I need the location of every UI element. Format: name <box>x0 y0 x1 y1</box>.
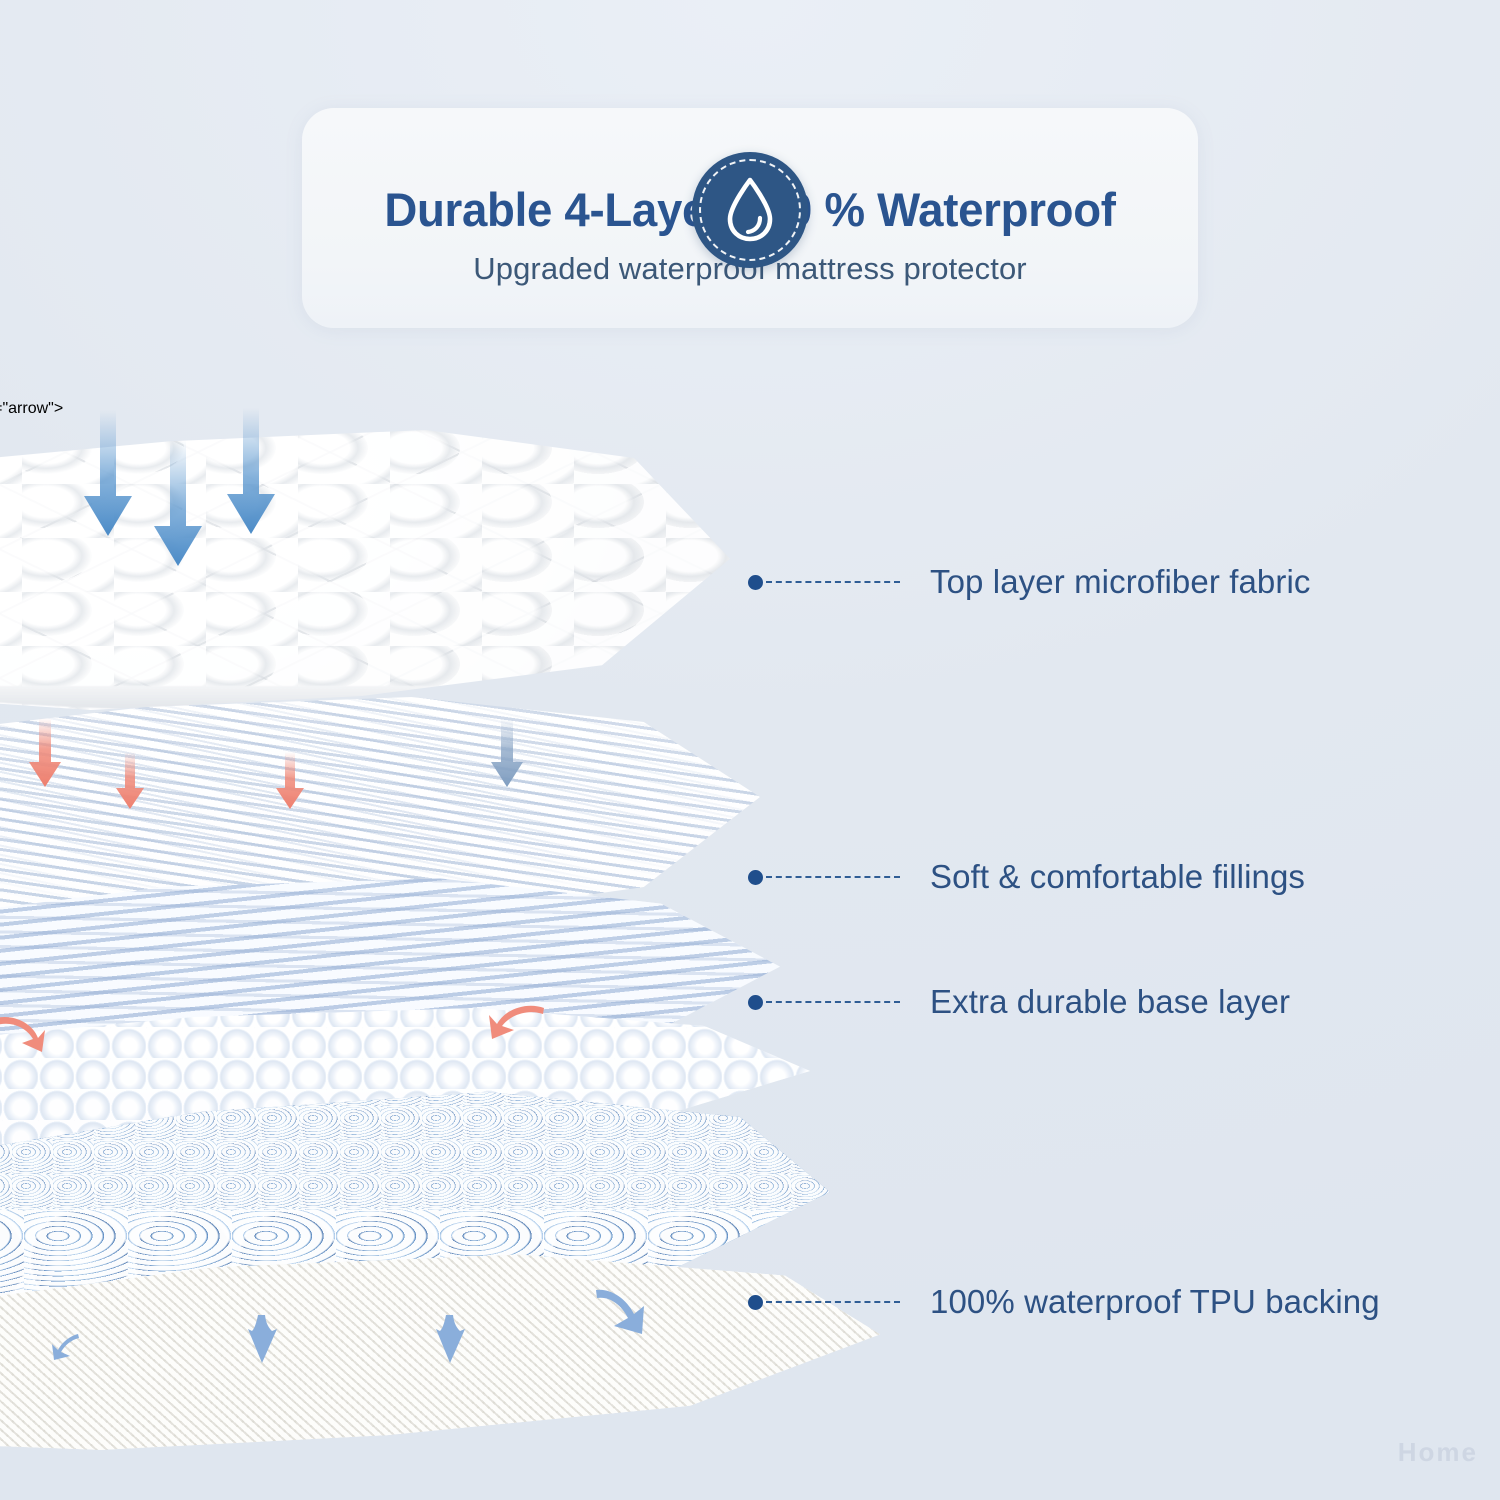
callout-top-layer: Top layer microfiber fabric <box>748 562 1311 602</box>
callout-fillings: Soft & comfortable fillings <box>748 857 1305 897</box>
callout-dot <box>748 995 763 1010</box>
arrow-absorb-blue-1 <box>82 410 134 540</box>
arrow-block-blue-4 <box>592 1284 654 1340</box>
arrow-absorb-red-4 <box>490 718 524 790</box>
arrow-spread-red-right <box>486 1000 548 1044</box>
arrow-absorb-red-2 <box>115 752 145 812</box>
callout-label-fillings: Soft & comfortable fillings <box>930 858 1305 896</box>
arrow-block-blue-3 <box>434 1315 468 1367</box>
arrow-absorb-blue-3 <box>225 408 277 538</box>
arrow-spread-red-left <box>0 1012 48 1056</box>
header-card: Durable 4-Layer 100 % Waterproof Upgrade… <box>302 108 1198 328</box>
callout-dot <box>748 575 763 590</box>
callout-label-base-layer: Extra durable base layer <box>930 983 1290 1021</box>
arrow-block-blue-2 <box>246 1315 280 1367</box>
callout-tpu: 100% waterproof TPU backing <box>748 1282 1380 1322</box>
callout-leader-line <box>766 1301 900 1303</box>
infographic-canvas: Durable 4-Layer 100 % Waterproof Upgrade… <box>0 0 1500 1500</box>
callout-leader-line <box>766 1001 900 1003</box>
water-drop-icon <box>692 152 808 268</box>
callout-dot <box>748 1295 763 1310</box>
callout-label-tpu: 100% waterproof TPU backing <box>930 1283 1380 1321</box>
arrow-absorb-blue-2 <box>152 440 204 570</box>
callout-base-layer: Extra durable base layer <box>748 982 1290 1022</box>
callout-label-top-layer: Top layer microfiber fabric <box>930 563 1311 601</box>
arrow-block-blue-1 <box>48 1330 82 1364</box>
arrow-absorb-red-3 <box>275 752 305 812</box>
callout-leader-line <box>766 876 900 878</box>
watermark: Home <box>1398 1437 1478 1468</box>
arrow-absorb-red-1 <box>28 718 62 790</box>
callout-dot <box>748 870 763 885</box>
callout-leader-line <box>766 581 900 583</box>
